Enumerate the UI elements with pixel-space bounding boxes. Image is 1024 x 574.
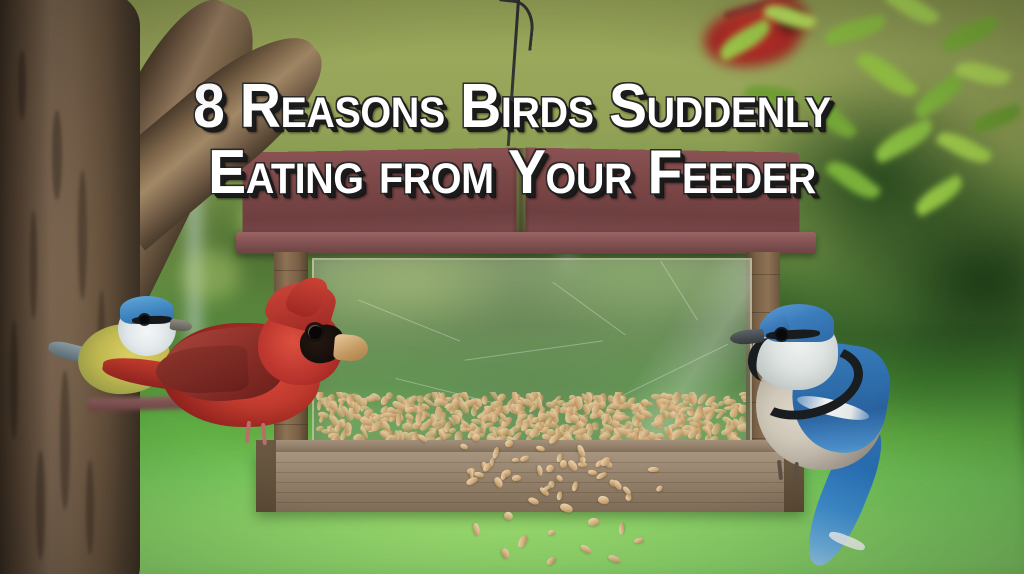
leaf	[743, 81, 798, 109]
leaf	[824, 154, 882, 205]
falling-seed	[579, 543, 592, 555]
falling-seed	[535, 445, 545, 452]
falling-seed	[500, 472, 508, 481]
falling-seed	[500, 547, 511, 560]
falling-seed	[607, 554, 621, 564]
falling-seed	[548, 433, 561, 446]
falling-seed	[418, 433, 429, 443]
blue-tit-eye	[140, 315, 149, 324]
feeder-roof-ridge	[512, 148, 530, 244]
falling-seed	[482, 461, 493, 472]
falling-seed	[599, 455, 612, 468]
leaf	[911, 174, 967, 217]
falling-seed	[437, 428, 447, 441]
leaf	[909, 71, 968, 120]
falling-seeds	[0, 430, 1024, 574]
image-canvas: 8 Reasons Birds Suddenly Eating from You…	[0, 0, 1024, 574]
falling-seed	[612, 479, 624, 492]
falling-seed	[472, 522, 481, 535]
falling-seed	[555, 474, 564, 483]
leaf	[883, 0, 940, 31]
falling-seed	[545, 556, 556, 567]
falling-seed	[559, 502, 574, 514]
falling-seed	[459, 443, 468, 451]
leaf	[970, 103, 1023, 134]
cardinal-eye	[308, 325, 322, 339]
cardinal-beak	[333, 334, 369, 363]
falling-seed	[622, 485, 632, 495]
leaf	[954, 56, 1011, 91]
leaf	[823, 14, 888, 46]
seed	[395, 413, 402, 427]
falling-seed	[619, 523, 625, 535]
falling-seed	[519, 455, 529, 462]
falling-seed	[504, 439, 514, 448]
seed	[616, 414, 629, 419]
falling-seed	[576, 444, 586, 458]
falling-seed	[588, 469, 598, 475]
leaf	[938, 14, 1001, 53]
falling-seed	[597, 495, 609, 505]
falling-seed	[527, 496, 540, 506]
falling-seed	[465, 476, 478, 486]
feeder-roof-edge	[236, 232, 816, 254]
falling-seed	[503, 510, 515, 522]
blue-jay-eye	[776, 329, 787, 340]
seed	[538, 412, 548, 420]
falling-seed	[588, 517, 600, 526]
falling-seed	[634, 537, 644, 544]
falling-seed	[547, 529, 555, 536]
falling-seed	[492, 446, 501, 459]
leaf	[871, 117, 938, 164]
leaf	[802, 87, 858, 144]
falling-seed	[516, 534, 528, 549]
leaf	[855, 45, 919, 104]
falling-seed	[560, 460, 568, 468]
falling-seed	[471, 433, 480, 442]
falling-seed	[536, 465, 544, 477]
